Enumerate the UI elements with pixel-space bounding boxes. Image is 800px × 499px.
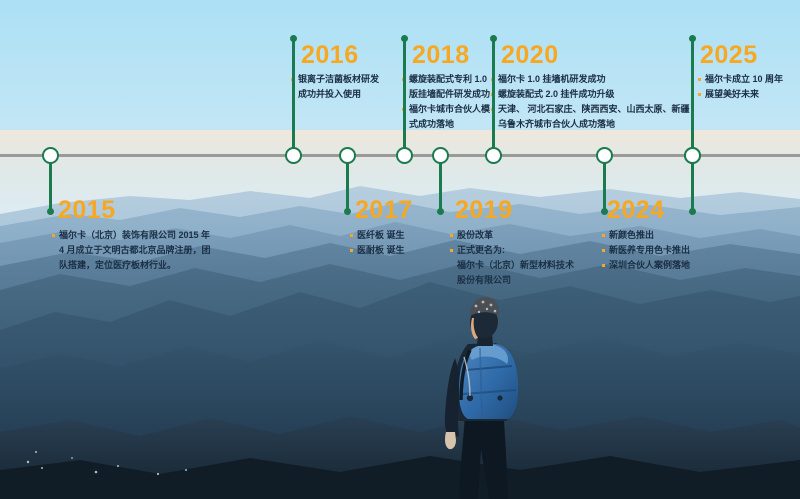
year-label-2015: 2015 [58, 198, 116, 223]
bullet-line: 新颜色推出 [609, 228, 654, 243]
bullet-line: 福尔卡成立 10 周年 [705, 72, 783, 87]
bullet-text: 天津、 河北石家庄、陕西西安、山西太原、新疆乌鲁木齐城市合伙人成功落地 [498, 102, 690, 132]
node-2024-stem-dot [601, 208, 608, 215]
bullet-text: 医纤板 诞生 [357, 228, 405, 243]
milestone-stem-dot-2024 [689, 208, 696, 215]
timeline-node-2015[interactable] [42, 147, 59, 164]
milestone-bullets-2025: 福尔卡成立 10 周年展望美好未来 [698, 72, 783, 102]
bullet-text: 螺旋装配式 2.0 挂件成功升级 [498, 87, 615, 102]
bullet-item: 医纤板 诞生 [350, 228, 405, 243]
year-label-2018: 2018 [412, 43, 470, 68]
milestone-stem-dot-2018 [401, 35, 408, 42]
bullet-text: 新医养专用色卡推出 [609, 243, 690, 258]
bullet-line: 福尔卡（北京）新型材料技术 [457, 258, 574, 273]
bullet-text: 福尔卡成立 10 周年 [705, 72, 783, 87]
bullet-item: 深圳合伙人案例落地 [602, 258, 690, 273]
bullet-line: 成功并投入使用 [298, 87, 379, 102]
bullet-text: 银离子洁菌板材研发成功并投入使用 [298, 72, 379, 102]
milestone-bullets-2015: 福尔卡（北京）装饰有限公司 2015 年4 月成立于文明古都北京品牌注册，团队搭… [52, 228, 211, 273]
bullet-item: 螺旋装配式专利 1.0版挂墙配件研发成功 [402, 72, 490, 102]
bullet-line: 天津、 河北石家庄、陕西西安、山西太原、新疆 [498, 102, 690, 117]
bullet-square-icon [450, 234, 453, 237]
bullet-line: 医纤板 诞生 [357, 228, 405, 243]
milestone-bullets-2018: 螺旋装配式专利 1.0版挂墙配件研发成功福尔卡城市合伙人模式成功落地 [402, 72, 490, 132]
milestone-stem-2018 [403, 38, 406, 155]
bullet-text: 福尔卡城市合伙人模式成功落地 [409, 102, 490, 132]
timeline-node-2016[interactable] [285, 147, 302, 164]
year-label-2016: 2016 [301, 43, 359, 68]
bullet-item: 福尔卡成立 10 周年 [698, 72, 783, 87]
milestone-stem-dot-2015 [47, 208, 54, 215]
bullet-line: 4 月成立于文明古都北京品牌注册，团 [59, 243, 211, 258]
bullet-line: 队搭建，定位医疗板材行业。 [59, 258, 211, 273]
year-label-2019: 2019 [455, 198, 513, 223]
bullet-square-icon [698, 93, 701, 96]
milestone-stem-dot-2017 [344, 208, 351, 215]
bullet-square-icon [450, 249, 453, 252]
bullet-item: 正式更名为:福尔卡（北京）新型材料技术股份有限公司 [450, 243, 574, 288]
bullet-line: 股份改革 [457, 228, 493, 243]
milestone-stem-2020 [492, 38, 495, 155]
milestone-stem-dot-2025 [689, 35, 696, 42]
bullet-line: 螺旋装配式专利 1.0 [409, 72, 490, 87]
milestone-bullets-2019: 股份改革正式更名为:福尔卡（北京）新型材料技术股份有限公司 [450, 228, 574, 288]
bullet-square-icon [698, 78, 701, 81]
bullet-line: 医耐板 诞生 [357, 243, 405, 258]
milestone-bullets-2017: 医纤板 诞生医耐板 诞生 [350, 228, 405, 258]
timeline-node-2017[interactable] [339, 147, 356, 164]
timeline-infographic: 2015福尔卡（北京）装饰有限公司 2015 年4 月成立于文明古都北京品牌注册… [0, 0, 800, 499]
bullet-square-icon [602, 264, 605, 267]
milestone-stem-dot-2016 [290, 35, 297, 42]
bullet-line: 乌鲁木齐城市合伙人成功落地 [498, 117, 690, 132]
year-label-2020: 2020 [501, 43, 559, 68]
year-label-2017: 2017 [355, 198, 413, 223]
bullet-square-icon [52, 234, 55, 237]
bullet-line: 式成功落地 [409, 117, 490, 132]
bullet-text: 螺旋装配式专利 1.0版挂墙配件研发成功 [409, 72, 490, 102]
bullet-line: 展望美好未来 [705, 87, 759, 102]
bullet-item: 医耐板 诞生 [350, 243, 405, 258]
bullet-line: 新医养专用色卡推出 [609, 243, 690, 258]
milestone-stem-dot-2019 [437, 208, 444, 215]
milestone-stem-dot-2020 [490, 35, 497, 42]
year-label-2024: 2024 [607, 198, 665, 223]
timeline-node-2019[interactable] [432, 147, 449, 164]
bullet-line: 福尔卡（北京）装饰有限公司 2015 年 [59, 228, 211, 243]
bullet-item: 展望美好未来 [698, 87, 783, 102]
bullet-square-icon [602, 234, 605, 237]
bullet-text: 医耐板 诞生 [357, 243, 405, 258]
bullet-text: 展望美好未来 [705, 87, 759, 102]
bullet-line: 福尔卡城市合伙人模 [409, 102, 490, 117]
bullet-item: 螺旋装配式 2.0 挂件成功升级 [491, 87, 690, 102]
bullet-text: 深圳合伙人案例落地 [609, 258, 690, 273]
bullet-item: 银离子洁菌板材研发成功并投入使用 [291, 72, 379, 102]
bullet-line: 螺旋装配式 2.0 挂件成功升级 [498, 87, 615, 102]
bullet-line: 股份有限公司 [457, 273, 574, 288]
milestone-stem-2025 [691, 38, 694, 155]
bullet-item: 新医养专用色卡推出 [602, 243, 690, 258]
bullet-square-icon [350, 249, 353, 252]
bullet-item: 福尔卡（北京）装饰有限公司 2015 年4 月成立于文明古都北京品牌注册，团队搭… [52, 228, 211, 273]
milestone-bullets-2020: 福尔卡 1.0 挂墙机研发成功螺旋装配式 2.0 挂件成功升级天津、 河北石家庄… [491, 72, 690, 132]
timeline-node-2025[interactable] [684, 147, 701, 164]
bullet-text: 新颜色推出 [609, 228, 654, 243]
bullet-item: 天津、 河北石家庄、陕西西安、山西太原、新疆乌鲁木齐城市合伙人成功落地 [491, 102, 690, 132]
bullet-text: 福尔卡 1.0 挂墙机研发成功 [498, 72, 606, 87]
node-2024-stem-circle[interactable] [596, 147, 613, 164]
year-label-2025: 2025 [700, 43, 758, 68]
bullet-item: 福尔卡城市合伙人模式成功落地 [402, 102, 490, 132]
bullet-line: 福尔卡 1.0 挂墙机研发成功 [498, 72, 606, 87]
timeline-node-2020[interactable] [485, 147, 502, 164]
milestone-bullets-2024: 新颜色推出新医养专用色卡推出深圳合伙人案例落地 [602, 228, 690, 273]
bullet-line: 正式更名为: [457, 243, 574, 258]
bullet-line: 版挂墙配件研发成功 [409, 87, 490, 102]
milestone-bullets-2016: 银离子洁菌板材研发成功并投入使用 [291, 72, 379, 102]
bullet-square-icon [350, 234, 353, 237]
bullet-text: 股份改革 [457, 228, 493, 243]
milestone-stem-2016 [292, 38, 295, 155]
bullet-item: 股份改革 [450, 228, 574, 243]
bullet-line: 银离子洁菌板材研发 [298, 72, 379, 87]
bullet-item: 新颜色推出 [602, 228, 690, 243]
bullet-line: 深圳合伙人案例落地 [609, 258, 690, 273]
timeline-node-2018[interactable] [396, 147, 413, 164]
bullet-square-icon [602, 249, 605, 252]
bullet-text: 福尔卡（北京）装饰有限公司 2015 年4 月成立于文明古都北京品牌注册，团队搭… [59, 228, 211, 273]
bullet-item: 福尔卡 1.0 挂墙机研发成功 [491, 72, 690, 87]
bullet-text: 正式更名为:福尔卡（北京）新型材料技术股份有限公司 [457, 243, 574, 288]
